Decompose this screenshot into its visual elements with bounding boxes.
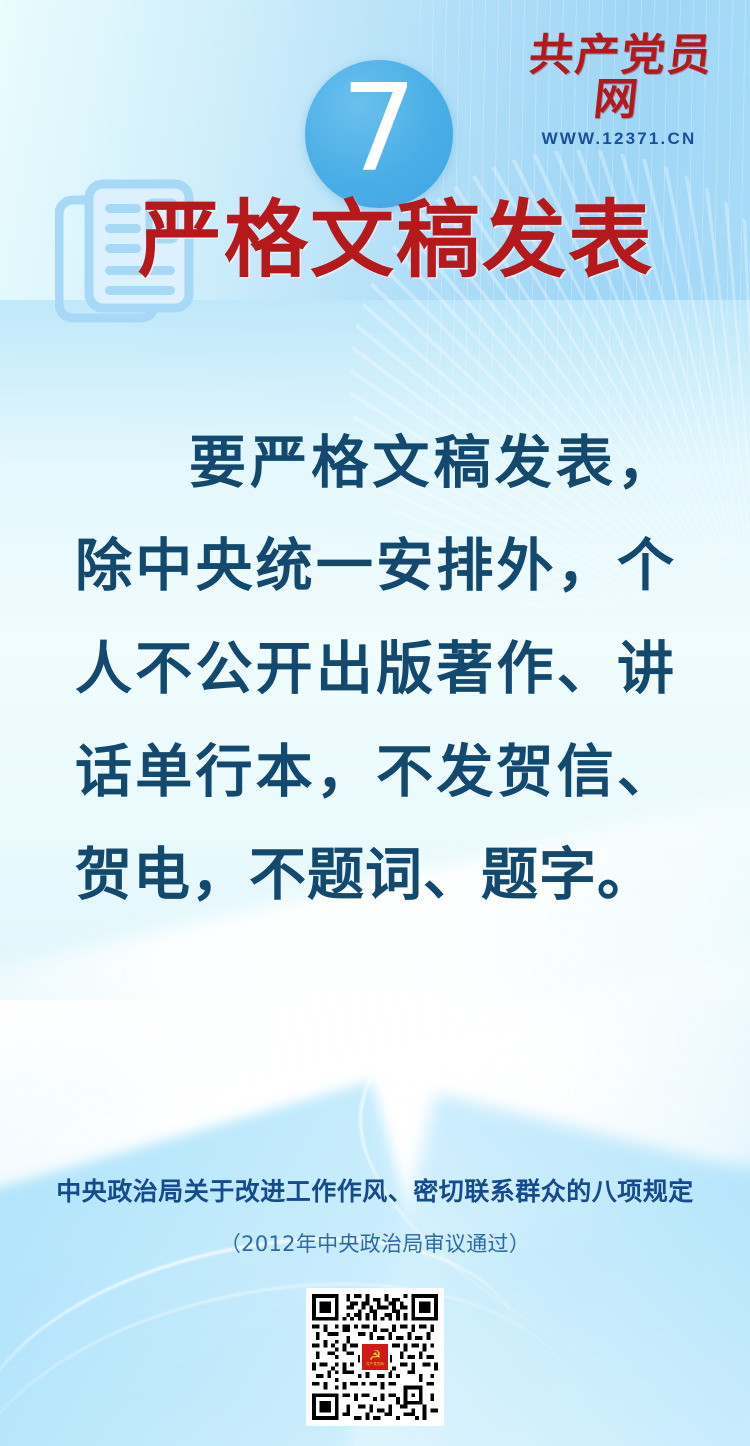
logo-url-text: WWW.12371.CN — [510, 129, 728, 149]
badge-number-text: 7 — [305, 60, 453, 208]
poster-root: 共产党员网 WWW.12371.CN 7 严格文稿发表 要严格文稿发表，除中央统… — [0, 0, 750, 1446]
body-paragraph: 要严格文稿发表，除中央统一安排外，个人不公开出版著作、讲话单行本，不发贺信、贺电… — [75, 412, 675, 927]
number-badge: 7 — [305, 60, 453, 208]
party-emblem-icon: ☭ 共产党员网 — [360, 1342, 390, 1372]
site-logo: 共产党员网 WWW.12371.CN — [510, 34, 728, 149]
qr-code[interactable]: ☭ 共产党员网 — [306, 1288, 444, 1426]
regulation-title: 中央政治局关于改进工作作风、密切联系群众的八项规定 — [0, 1172, 750, 1208]
page-title: 严格文稿发表 — [0, 196, 750, 285]
adoption-note: （2012年中央政治局审议通过） — [0, 1228, 750, 1258]
party-emblem-caption: 共产党员网 — [366, 1363, 384, 1366]
logo-brand-text: 共产党员网 — [505, 34, 732, 122]
party-emblem-glyph: ☭ — [369, 1348, 382, 1362]
